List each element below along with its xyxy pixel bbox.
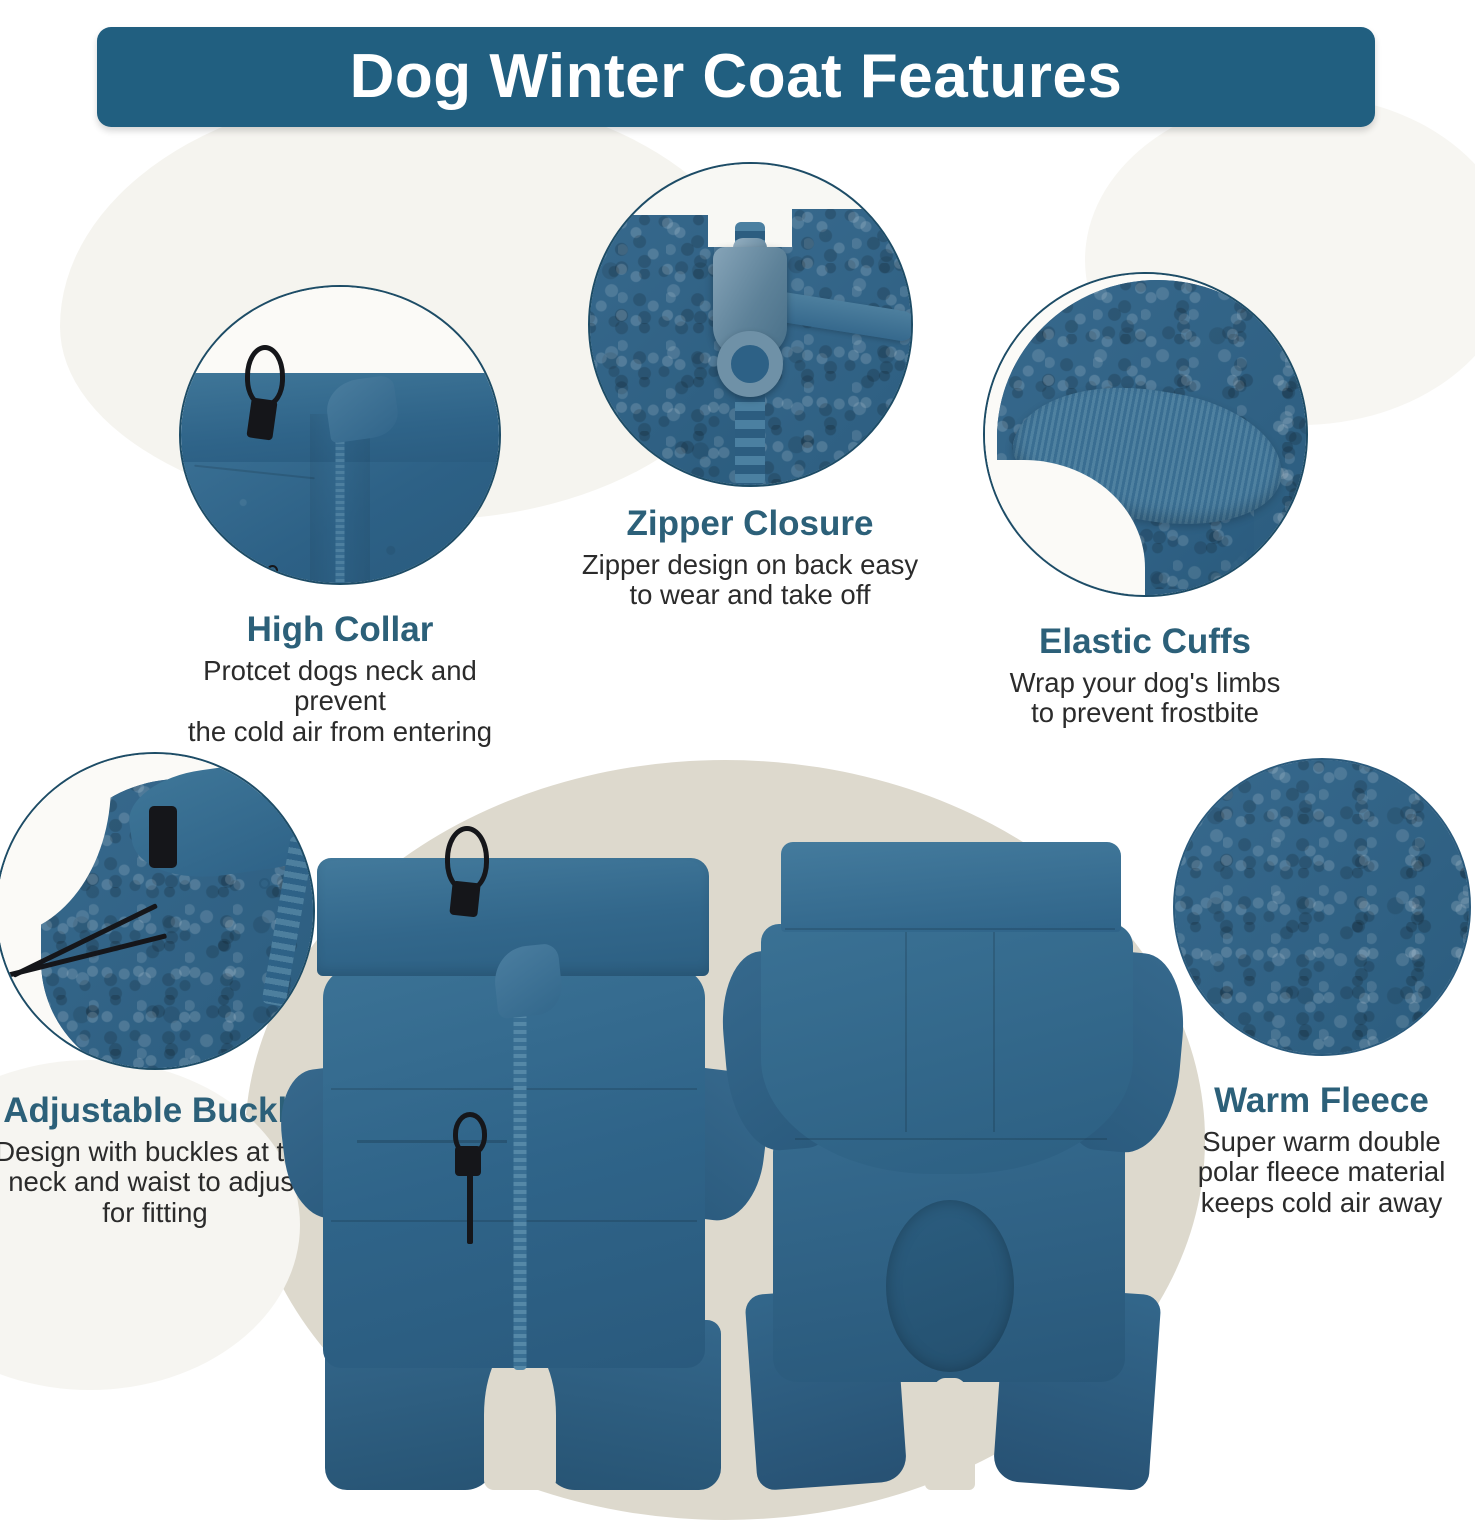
desc-line: Super warm double <box>1168 1127 1475 1158</box>
zipper-closure-caption: Zipper Closure Zipper design on back eas… <box>580 505 920 611</box>
feature-adjustable-buckle: Adjustable Buckle Design with buckles at… <box>0 752 320 1229</box>
sherpa-texture <box>1175 760 1469 1054</box>
desc-line: keeps cold air away <box>1168 1188 1475 1219</box>
elastic-cuff-closeup-image <box>983 272 1308 597</box>
warm-fleece-caption: Warm Fleece Super warm double polar flee… <box>1168 1082 1475 1219</box>
waist-seam <box>795 1138 1107 1140</box>
drawstring-cord-icon <box>245 345 285 407</box>
feature-warm-fleece: Warm Fleece Super warm double polar flee… <box>1168 758 1475 1219</box>
feature-elastic-cuffs: Elastic Cuffs Wrap your dog's limbs to p… <box>975 272 1315 729</box>
feature-title: High Collar <box>175 611 505 650</box>
zipper-closure-closeup-image <box>588 162 913 487</box>
zipper-pull-ring-icon <box>717 331 783 397</box>
high-collar-closeup-image <box>179 285 501 585</box>
desc-line: to wear and take off <box>580 580 920 611</box>
feature-high-collar: High Collar Protcet dogs neck and preven… <box>175 285 505 748</box>
center-back-seam <box>905 932 907 1132</box>
feature-title: Warm Fleece <box>1168 1082 1475 1121</box>
desc-line: the cold air from entering <box>175 717 505 748</box>
desc-line: polar fleece material <box>1168 1157 1475 1188</box>
desc-line: for fitting <box>0 1198 320 1229</box>
waist-cord-tail-icon <box>467 1172 473 1244</box>
collar-cord-lock-toggle-icon <box>449 881 480 918</box>
feature-description: Wrap your dog's limbs to prevent frostbi… <box>975 668 1315 730</box>
feature-title: Zipper Closure <box>580 505 920 544</box>
desc-line: Zipper design on back easy <box>580 550 920 581</box>
adjustable-buckle-closeup-image <box>0 752 315 1070</box>
cord-lock-toggle-icon <box>149 806 177 868</box>
leg-gap <box>925 1378 975 1490</box>
collar-seam <box>785 928 1115 930</box>
dog-coat-front-view-image <box>305 820 735 1480</box>
desc-line: Wrap your dog's limbs <box>975 668 1315 699</box>
dog-coat-back-view-image <box>755 820 1145 1480</box>
rear-opening <box>886 1200 1014 1372</box>
elastic-cuffs-caption: Elastic Cuffs Wrap your dog's limbs to p… <box>975 623 1315 729</box>
cord-eyelet-icon <box>267 565 278 576</box>
cord-eyelet-icon <box>259 878 270 889</box>
desc-line: to prevent frostbite <box>975 698 1315 729</box>
high-collar-caption: High Collar Protcet dogs neck and preven… <box>175 611 505 748</box>
feature-description: Protcet dogs neck and prevent the cold a… <box>175 656 505 748</box>
cord-lock-toggle-icon <box>246 397 277 440</box>
feature-zipper-closure: Zipper Closure Zipper design on back eas… <box>580 162 920 611</box>
feature-title: Adjustable Buckle <box>0 1092 320 1131</box>
desc-line: neck and waist to adjust <box>0 1167 320 1198</box>
feature-description: Super warm double polar fleece material … <box>1168 1127 1475 1219</box>
feature-description: Design with buckles at the neck and wais… <box>0 1137 320 1229</box>
title-banner: Dog Winter Coat Features <box>97 27 1375 127</box>
desc-line: Protcet dogs neck and prevent <box>175 656 505 718</box>
feature-description: Zipper design on back easy to wear and t… <box>580 550 920 612</box>
adjustable-buckle-caption: Adjustable Buckle Design with buckles at… <box>0 1092 320 1229</box>
center-back-seam <box>993 932 995 1132</box>
coat-collar-band <box>781 842 1121 932</box>
warm-fleece-texture-closeup-image <box>1173 758 1471 1056</box>
coat-upper-body <box>761 924 1133 1174</box>
page-title: Dog Winter Coat Features <box>350 46 1123 108</box>
desc-line: Design with buckles at the <box>0 1137 320 1168</box>
feature-title: Elastic Cuffs <box>975 623 1315 662</box>
